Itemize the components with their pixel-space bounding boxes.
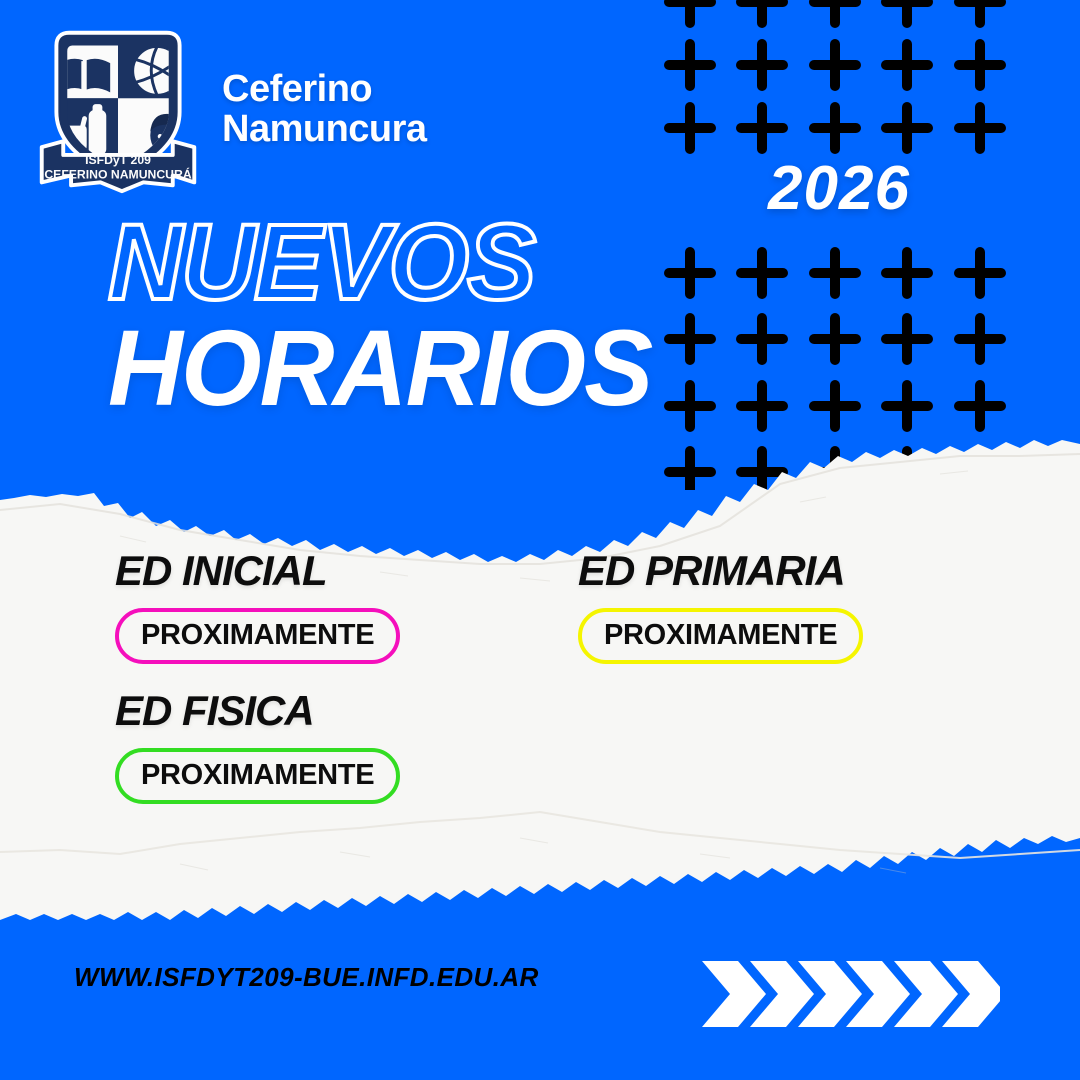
course-card-ed-inicial[interactable]: ED INICIAL PROXIMAMENTE bbox=[115, 550, 400, 664]
brand-name-line2: Namuncura bbox=[222, 110, 427, 150]
crest-ribbon-line2: CEFERINO NAMUNCURÁ bbox=[44, 166, 191, 181]
brand-name-line1: Ceferino bbox=[222, 68, 372, 110]
status-badge-ed-fisica: PROXIMAMENTE bbox=[115, 748, 400, 804]
course-card-ed-primaria[interactable]: ED PRIMARIA PROXIMAMENTE bbox=[578, 550, 863, 664]
page-title: NUEVOS HORARIOS bbox=[108, 212, 674, 419]
year-label: 2026 bbox=[768, 158, 910, 220]
torn-paper-band bbox=[0, 440, 1080, 920]
headline-line-nuevos: NUEVOS bbox=[108, 212, 651, 312]
course-card-ed-fisica[interactable]: ED FISICA PROXIMAMENTE bbox=[115, 690, 400, 804]
brand-logo-block: ISFDyT 209 CEFERINO NAMUNCURÁ Ceferino N… bbox=[30, 22, 427, 198]
status-badge-ed-primaria: PROXIMAMENTE bbox=[578, 608, 863, 664]
website-url[interactable]: WWW.ISFDYT209-BUE.INFD.EDU.AR bbox=[74, 962, 539, 993]
course-title-ed-primaria: ED PRIMARIA bbox=[578, 550, 863, 592]
status-badge-label: PROXIMAMENTE bbox=[604, 621, 837, 650]
course-title-ed-fisica: ED FISICA bbox=[115, 690, 400, 732]
double-chevron-right-icon bbox=[700, 955, 1000, 1033]
brand-name: Ceferino Namuncura bbox=[222, 70, 427, 150]
status-badge-label: PROXIMAMENTE bbox=[141, 621, 374, 650]
crest-ribbon-line1: ISFDyT 209 bbox=[85, 153, 151, 167]
school-crest-icon: ISFDyT 209 CEFERINO NAMUNCURÁ bbox=[30, 22, 206, 198]
headline-line-horarios: HORARIOS bbox=[108, 318, 651, 418]
poster-canvas: ISFDyT 209 CEFERINO NAMUNCURÁ Ceferino N… bbox=[0, 0, 1080, 1080]
status-badge-ed-inicial: PROXIMAMENTE bbox=[115, 608, 400, 664]
status-badge-label: PROXIMAMENTE bbox=[141, 761, 374, 790]
course-title-ed-inicial: ED INICIAL bbox=[115, 550, 400, 592]
